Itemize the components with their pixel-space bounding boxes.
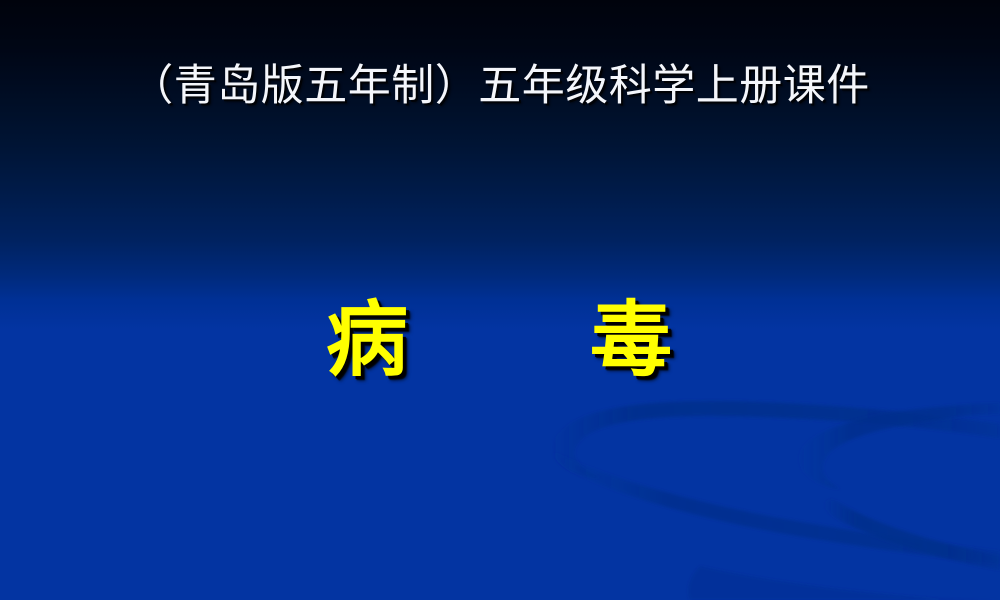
- swoosh-upper: [553, 401, 1000, 478]
- page-title: 病 毒: [326, 300, 674, 382]
- swoosh-lower: [554, 452, 1000, 564]
- swoosh-lower-tail: [688, 566, 1000, 600]
- slide-subtitle-line: （青岛版五年制）五年级科学上册课件: [0, 62, 1000, 113]
- swoosh-upper-right: [799, 403, 1000, 489]
- slide-subtitle: （青岛版五年制）五年级科学上册课件: [130, 62, 870, 113]
- slide-title-line: 病 毒: [0, 300, 1000, 382]
- presentation-slide: （青岛版五年制）五年级科学上册课件 病 毒: [0, 0, 1000, 600]
- swoosh-lower-right: [824, 499, 1000, 570]
